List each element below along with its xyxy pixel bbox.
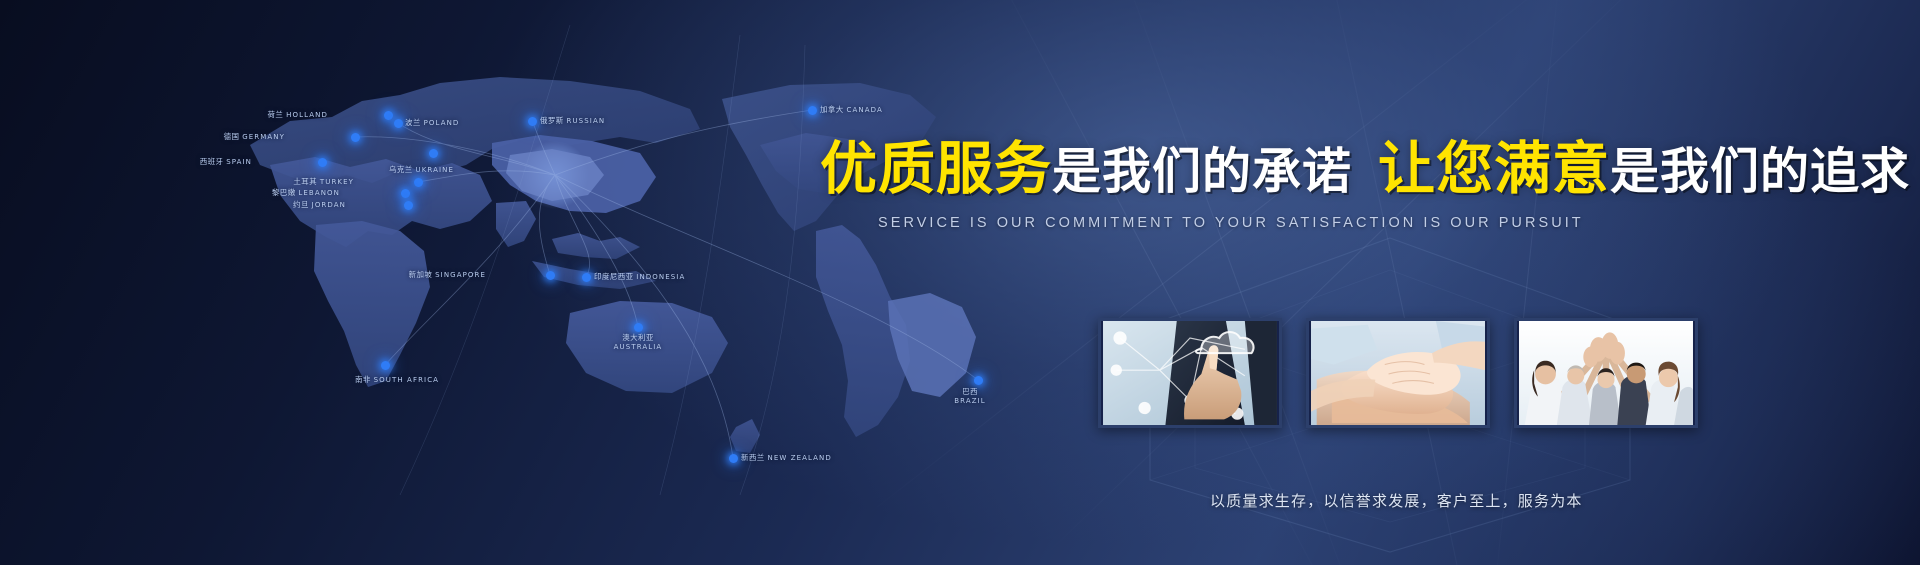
map-label-turkey: 土耳其 TURKEY — [264, 177, 354, 187]
map-label-indonesia: 印度尼西亚 INDONESIA — [594, 272, 685, 282]
map-marker-spain[interactable] — [318, 158, 327, 167]
map-marker-russian[interactable] — [528, 117, 537, 126]
photo-strip — [1098, 318, 1698, 428]
map-marker-poland[interactable] — [394, 119, 403, 128]
stacked-hands-teamwork-photo — [1306, 318, 1490, 428]
map-label-new-zealand: 新西兰 NEW ZEALAND — [741, 453, 832, 463]
map-label-brazil: 巴西BRAZIL — [930, 387, 1010, 406]
map-marker-canada[interactable] — [808, 106, 817, 115]
promo-banner: 荷兰 HOLLAND德国 GERMANY波兰 POLAND乌克兰 UKRAINE… — [0, 0, 1920, 565]
text-block: 优质服务是我们的承诺让您满意是我们的追求 SERVICE IS OUR COMM… — [820, 140, 1820, 231]
headline-seg-2: 是我们的承诺 — [1052, 143, 1352, 200]
map-marker-germany[interactable] — [351, 133, 360, 142]
map-label-germany: 德国 GERMANY — [195, 132, 285, 142]
map-label-spain: 西班牙 SPAIN — [162, 157, 252, 167]
map-marker-south-africa[interactable] — [381, 361, 390, 370]
headline-seg-3: 让您满意 — [1378, 136, 1610, 202]
map-marker-turkey[interactable] — [414, 178, 423, 187]
map-label-ukraine: 乌克兰 UKRAINE — [389, 165, 454, 175]
map-label-russian: 俄罗斯 RUSSIAN — [540, 116, 605, 126]
map-marker-ukraine[interactable] — [429, 149, 438, 158]
map-marker-holland[interactable] — [384, 111, 393, 120]
map-label-singapore: 新加坡 SINGAPORE — [396, 270, 486, 280]
map-label-jordan: 约旦 JORDAN — [256, 200, 346, 210]
map-marker-jordan[interactable] — [404, 201, 413, 210]
cloud-network-touch-photo — [1098, 318, 1282, 428]
team-high-five-photo — [1514, 318, 1698, 428]
map-marker-singapore[interactable] — [546, 271, 555, 280]
map-label-lebanon: 黎巴嫩 LEBANON — [250, 188, 340, 198]
map-label-canada: 加拿大 CANADA — [820, 105, 883, 115]
headline-seg-1: 优质服务 — [820, 136, 1052, 202]
headline-seg-4: 是我们的追求 — [1610, 143, 1910, 200]
map-label-poland: 波兰 POLAND — [405, 118, 459, 128]
world-map: 荷兰 HOLLAND德国 GERMANY波兰 POLAND乌克兰 UKRAINE… — [100, 25, 980, 495]
headline: 优质服务是我们的承诺让您满意是我们的追求 — [820, 140, 1820, 200]
map-label-south-africa: 南非 SOUTH AFRICA — [355, 375, 439, 385]
subtitle: SERVICE IS OUR COMMITMENT TO YOUR SATISF… — [820, 215, 1820, 231]
map-label-holland: 荷兰 HOLLAND — [238, 110, 328, 120]
map-marker-australia[interactable] — [634, 323, 643, 332]
map-marker-brazil[interactable] — [974, 376, 983, 385]
map-label-australia: 澳大利亚AUSTRALIA — [598, 333, 678, 352]
map-marker-new-zealand[interactable] — [729, 454, 738, 463]
map-marker-indonesia[interactable] — [582, 273, 591, 282]
map-marker-lebanon[interactable] — [401, 189, 410, 198]
tagline: 以质量求生存，以信誉求发展，客户至上，服务为本 — [1210, 490, 1583, 511]
